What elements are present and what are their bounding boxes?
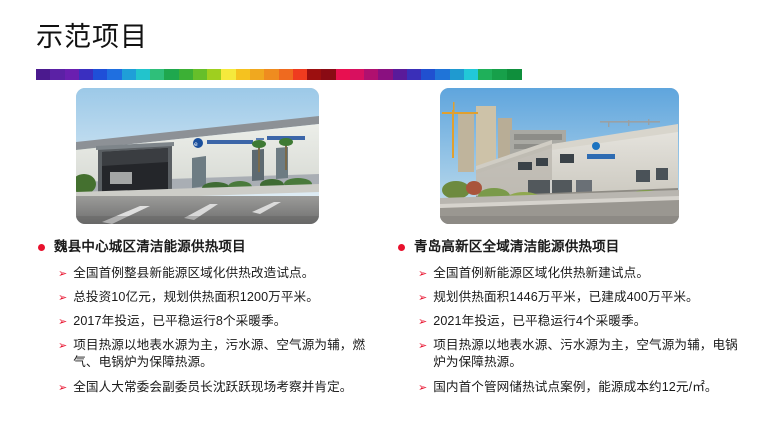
project-heading-right: 青岛高新区全域清洁能源供热项目: [396, 238, 748, 256]
list-item-label: 2021年投运，已平稳运行4个采暖季。: [433, 313, 646, 330]
heading-bullet-icon: [38, 244, 45, 251]
list-item: ➢ 全国人大常委会副委员长沈跃跃现场考察并肯定。: [58, 379, 388, 396]
rainbow-divider-bar: [36, 69, 521, 80]
list-item: ➢ 2021年投运，已平稳运行4个采暖季。: [418, 313, 748, 330]
rainbow-segment: [136, 69, 151, 80]
list-arrow-icon: ➢: [58, 337, 67, 354]
rainbow-segment: [65, 69, 80, 80]
rainbow-segment: [350, 69, 365, 80]
list-item-label: 国内首个管网储热试点案例，能源成本约12元/㎡。: [433, 379, 717, 396]
rainbow-segment: [79, 69, 94, 80]
rainbow-segment: [207, 69, 222, 80]
list-item-label: 全国首例整县新能源区域化供热改造试点。: [73, 265, 314, 282]
list-item-label: 规划供热面积1446万平米，已建成400万平米。: [433, 289, 699, 306]
list-item: ➢ 项目热源以地表水源、污水源为主，空气源为辅，电锅炉为保障热源。: [418, 337, 748, 371]
photo-left-illustration: e: [76, 88, 319, 224]
rainbow-segment: [36, 69, 51, 80]
rainbow-segment: [93, 69, 108, 80]
page-title: 示范项目: [36, 20, 148, 54]
rainbow-segment: [293, 69, 308, 80]
rainbow-segment: [150, 69, 165, 80]
rainbow-segment: [421, 69, 436, 80]
rainbow-segment: [122, 69, 137, 80]
rainbow-segment: [321, 69, 336, 80]
rainbow-segment: [179, 69, 194, 80]
rainbow-segment: [450, 69, 465, 80]
rainbow-segment: [407, 69, 422, 80]
rainbow-segment: [50, 69, 65, 80]
list-arrow-icon: ➢: [418, 265, 427, 282]
list-item: ➢ 全国首例新能源区域化供热新建试点。: [418, 265, 748, 282]
rainbow-segment: [164, 69, 179, 80]
photo-qingdao-highnew-building: [440, 88, 679, 224]
project-column-left: 魏县中心城区清洁能源供热项目 ➢ 全国首例整县新能源区域化供热改造试点。 ➢ 总…: [36, 238, 388, 403]
list-item: ➢ 2017年投运，已平稳运行8个采暖季。: [58, 313, 388, 330]
rainbow-segment: [221, 69, 236, 80]
rainbow-segment: [307, 69, 322, 80]
list-arrow-icon: ➢: [418, 379, 427, 396]
list-item: ➢ 规划供热面积1446万平米，已建成400万平米。: [418, 289, 748, 306]
rainbow-segment: [435, 69, 450, 80]
rainbow-segment: [250, 69, 265, 80]
list-item: ➢ 总投资10亿元，规划供热面积1200万平米。: [58, 289, 388, 306]
list-arrow-icon: ➢: [58, 265, 67, 282]
list-arrow-icon: ➢: [58, 313, 67, 330]
rainbow-segment: [378, 69, 393, 80]
list-item-label: 项目热源以地表水源、污水源为主，空气源为辅，电锅炉为保障热源。: [433, 337, 748, 371]
rainbow-segment: [107, 69, 122, 80]
photo-weixian-heating-plant: e: [76, 88, 319, 224]
list-arrow-icon: ➢: [418, 313, 427, 330]
list-arrow-icon: ➢: [58, 289, 67, 306]
list-item: ➢ 国内首个管网储热试点案例，能源成本约12元/㎡。: [418, 379, 748, 396]
rainbow-segment: [478, 69, 493, 80]
project-bullet-list-right: ➢ 全国首例新能源区域化供热新建试点。 ➢ 规划供热面积1446万平米，已建成4…: [396, 265, 748, 396]
rainbow-segment: [279, 69, 294, 80]
list-item-label: 全国首例新能源区域化供热新建试点。: [433, 265, 649, 282]
slide-canvas: 示范项目: [0, 0, 768, 432]
project-heading-right-label: 青岛高新区全域清洁能源供热项目: [414, 238, 620, 256]
list-item-label: 项目热源以地表水源为主，污水源、空气源为辅，燃气、电锅炉为保障热源。: [73, 337, 388, 371]
rainbow-segment: [193, 69, 208, 80]
heading-bullet-icon: [398, 244, 405, 251]
rainbow-segment: [236, 69, 251, 80]
list-item: ➢ 项目热源以地表水源为主，污水源、空气源为辅，燃气、电锅炉为保障热源。: [58, 337, 388, 371]
list-item: ➢ 全国首例整县新能源区域化供热改造试点。: [58, 265, 388, 282]
project-column-right: 青岛高新区全域清洁能源供热项目 ➢ 全国首例新能源区域化供热新建试点。 ➢ 规划…: [396, 238, 748, 403]
rainbow-segment: [336, 69, 351, 80]
list-item-label: 全国人大常委会副委员长沈跃跃现场考察并肯定。: [73, 379, 352, 396]
list-item-label: 2017年投运，已平稳运行8个采暖季。: [73, 313, 286, 330]
list-arrow-icon: ➢: [58, 379, 67, 396]
project-heading-left-label: 魏县中心城区清洁能源供热项目: [54, 238, 246, 256]
rainbow-segment: [464, 69, 479, 80]
rainbow-segment: [393, 69, 408, 80]
rainbow-segment: [264, 69, 279, 80]
rainbow-segment: [364, 69, 379, 80]
project-bullet-list-left: ➢ 全国首例整县新能源区域化供热改造试点。 ➢ 总投资10亿元，规划供热面积12…: [36, 265, 388, 396]
rainbow-segment: [492, 69, 507, 80]
rainbow-segment: [507, 69, 522, 80]
photo-right-illustration: [440, 88, 679, 224]
list-arrow-icon: ➢: [418, 337, 427, 354]
svg-text:e: e: [194, 141, 198, 148]
list-item-label: 总投资10亿元，规划供热面积1200万平米。: [73, 289, 319, 306]
list-arrow-icon: ➢: [418, 289, 427, 306]
project-heading-left: 魏县中心城区清洁能源供热项目: [36, 238, 388, 256]
